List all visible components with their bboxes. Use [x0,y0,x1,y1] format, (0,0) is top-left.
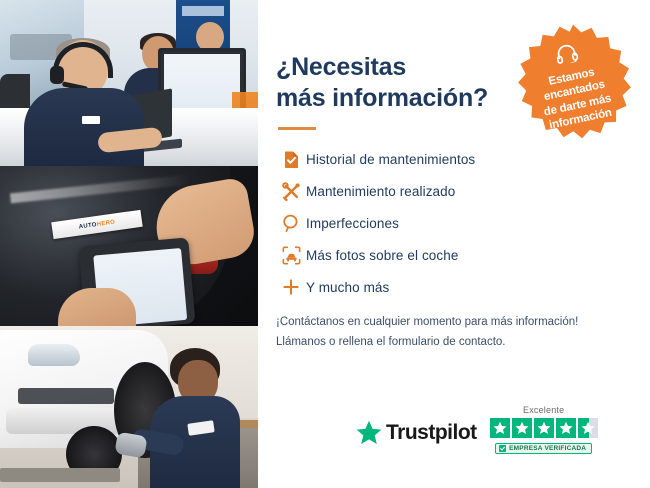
plus-icon [276,278,306,296]
vehicle-inspection-ruler-photo: AUTOHERO [0,166,258,326]
ruler-brand-hero: HERO [96,219,115,228]
trustpilot-logo[interactable]: Trustpilot [356,420,477,454]
photo-column: AUTOHERO [0,0,258,488]
feature-item-more-photos: Más fotos sobre el coche [276,244,624,266]
trustpilot-block[interactable]: Trustpilot Excelente [356,405,598,454]
headset-promo-badge: Estamos encantados de darte más informac… [511,22,635,146]
ruler-brand-auto: AUTO [78,222,97,230]
feature-label: Más fotos sobre el coche [306,248,458,263]
feature-label: Mantenimiento realizado [306,184,455,199]
star-2 [512,418,532,438]
page-title-line-2: más información? [276,84,488,112]
trustpilot-rating: Excelente [490,405,598,454]
verified-check-icon [499,445,506,452]
information-promo-card: AUTOHERO [0,0,650,488]
star-5-half [578,418,598,438]
contact-text: ¡Contáctanos en cualquier momento para m… [276,312,624,352]
contact-line-1: ¡Contáctanos en cualquier momento para m… [276,312,624,332]
page-title-line-1: ¿Necesitas [276,53,406,81]
star-3 [534,418,554,438]
feature-list: Historial de mantenimientos Mantenimient… [276,148,624,298]
feature-item-imperfections: Imperfecciones [276,212,624,234]
magnifier-icon [276,214,306,233]
verified-company-badge: EMPRESA VERIFICADA [495,443,592,454]
headset-icon [554,42,581,71]
star-4 [556,418,576,438]
car-focus-icon [276,246,306,265]
feature-item-much-more: Y mucho más [276,276,624,298]
feature-label: Imperfecciones [306,216,399,231]
content-panel: ¿Necesitas más información? Historial de… [258,0,650,488]
feature-item-maintenance-history: Historial de mantenimientos [276,148,624,170]
verified-company-label: EMPRESA VERIFICADA [509,445,586,452]
tools-icon [276,182,306,201]
trustpilot-brand-name: Trustpilot [386,421,477,445]
call-center-agents-photo [0,0,258,166]
trustpilot-stars [490,418,598,438]
mechanic-wheel-check-photo [0,326,258,488]
star-1 [490,418,510,438]
title-divider [278,127,316,130]
trustpilot-rating-label: Excelente [523,405,564,415]
trustpilot-star-icon [356,420,382,445]
document-check-icon [276,150,306,169]
contact-line-2: Llámanos o rellena el formulario de cont… [276,332,624,352]
feature-label: Historial de mantenimientos [306,152,475,167]
page-title: ¿Necesitas más información? [276,52,526,113]
feature-label: Y mucho más [306,280,389,295]
feature-item-maintenance-done: Mantenimiento realizado [276,180,624,202]
